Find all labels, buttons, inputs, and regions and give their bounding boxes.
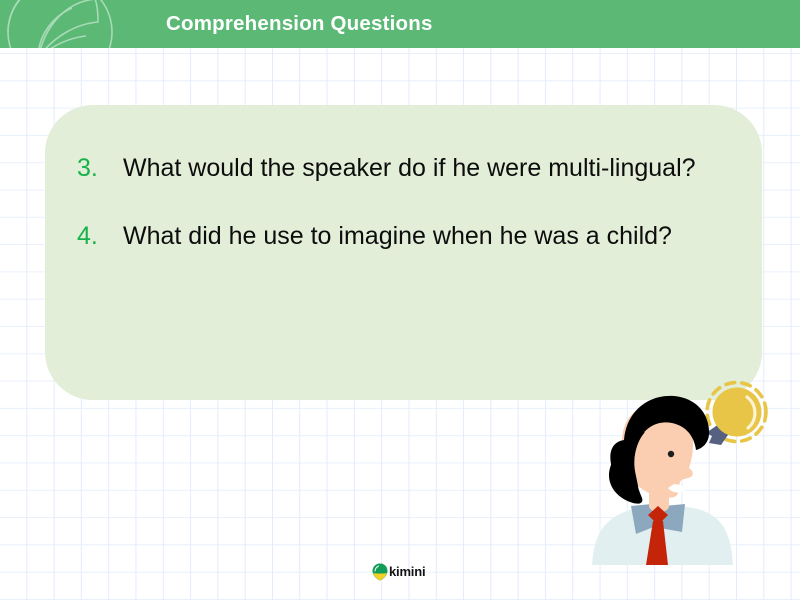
kimini-brand-text: kimini (389, 563, 425, 581)
eye-shape (668, 451, 674, 457)
question-text: What did he use to imagine when he was a… (123, 209, 703, 263)
question-number: 4. (77, 209, 123, 263)
list-item: 4. What did he use to imagine when he wa… (77, 209, 742, 263)
question-list: 3. What would the speaker do if he were … (77, 141, 742, 277)
header-bar: Comprehension Questions (0, 0, 800, 48)
question-card: 3. What would the speaker do if he were … (45, 105, 762, 400)
kimini-balloon-icon (372, 563, 388, 581)
kimini-leaf-watermark-icon (0, 0, 126, 48)
man-thinking-with-lightbulb-illustration (590, 380, 800, 570)
question-text: What would the speaker do if he were mul… (123, 141, 703, 195)
slide-root: Comprehension Questions 3. What would th… (0, 0, 800, 600)
kimini-footer-logo: kimini (372, 562, 425, 582)
question-number: 3. (77, 141, 123, 195)
list-item: 3. What would the speaker do if he were … (77, 141, 742, 195)
lightbulb-icon (706, 383, 766, 446)
page-title: Comprehension Questions (166, 0, 433, 48)
